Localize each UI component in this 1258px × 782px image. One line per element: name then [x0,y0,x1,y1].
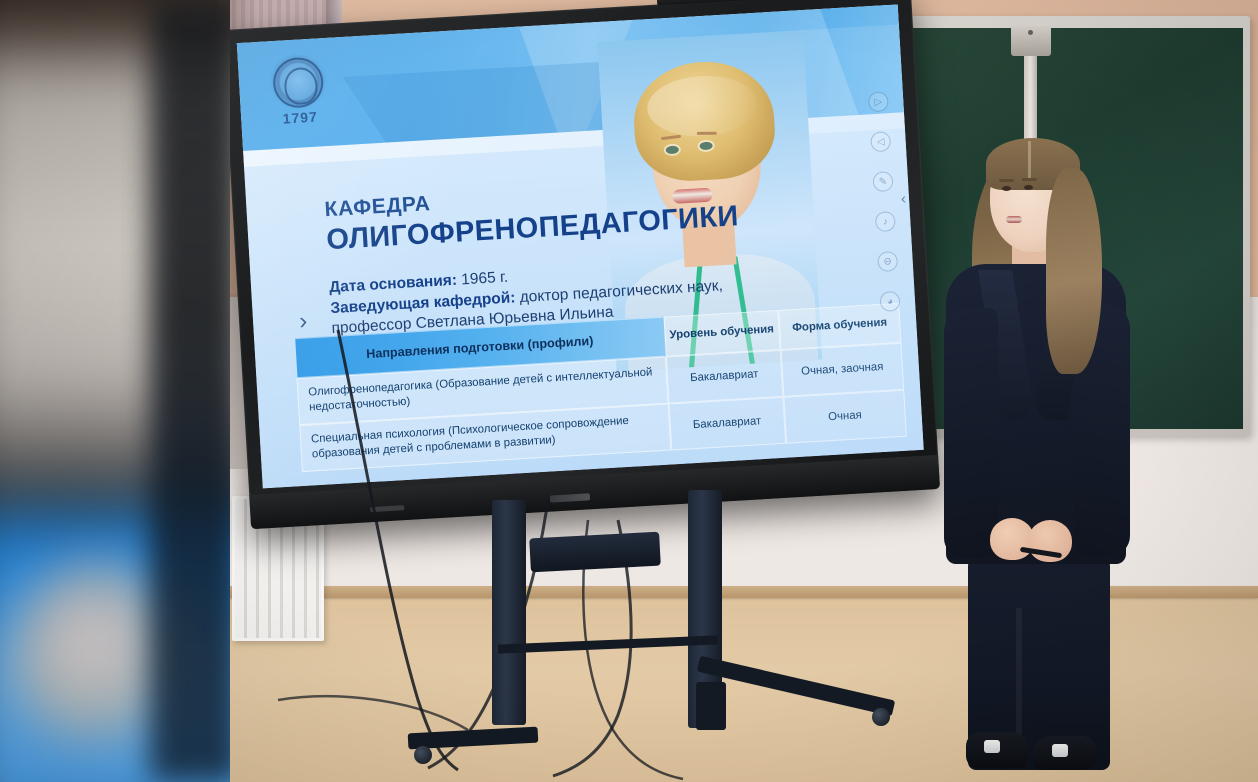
cell-form: Очная, заочная [780,343,904,397]
chalkboard-hinge [1011,26,1051,56]
ir-sensor-icon [370,505,404,512]
stand-foot-left [408,727,539,750]
stand-foot-right [697,656,895,717]
display-screen[interactable]: 1797 КАФЕДРА ОЛИГОФРЕНОПЕДАГОГИКИ [237,4,924,488]
cell-level: Бакалавриат [666,350,784,403]
tv-stand [420,490,920,782]
interactive-display[interactable]: 1797 КАФЕДРА ОЛИГОФРЕНОПЕДАГОГИКИ [222,0,940,529]
cell-form: Очная [783,390,907,444]
stand-crossbar [498,635,718,653]
minus-icon[interactable]: ⊖ [877,251,898,272]
col-header-level: Уровень обучения [663,310,780,357]
screenshot-stage: 1797 КАФЕДРА ОЛИГОФРЕНОПЕДАГОГИКИ [0,0,1258,782]
note-icon[interactable]: ♪ [875,211,896,232]
rewind-icon[interactable]: ◁ [870,131,891,152]
meta-value-founded: 1965 г. [456,269,508,289]
blur-layer-dark-edge [150,0,230,782]
slide-title-small: КАФЕДРА [324,192,431,222]
presentation-slide[interactable]: 1797 КАФЕДРА ОЛИГОФРЕНОПЕДАГОГИКИ [237,4,924,488]
university-crest-icon: 1797 [266,54,332,129]
play-icon[interactable]: ▷ [868,91,889,112]
stand-foot-right-post [696,682,726,730]
stand-column-left [492,500,526,725]
blurred-letterbox-strip [0,0,230,782]
stand-media-box [529,532,661,573]
clock-icon[interactable]: ◕ [879,291,900,312]
caster-wheel [872,708,890,726]
pen-icon[interactable]: ✎ [872,171,893,192]
cell-level: Бакалавриат [668,397,786,450]
collapse-chevron-icon[interactable]: ‹ [901,190,907,207]
crest-year: 1797 [269,108,332,128]
caster-wheel [414,746,432,764]
next-chevron-icon[interactable]: › [298,308,308,336]
presenter [928,128,1158,782]
